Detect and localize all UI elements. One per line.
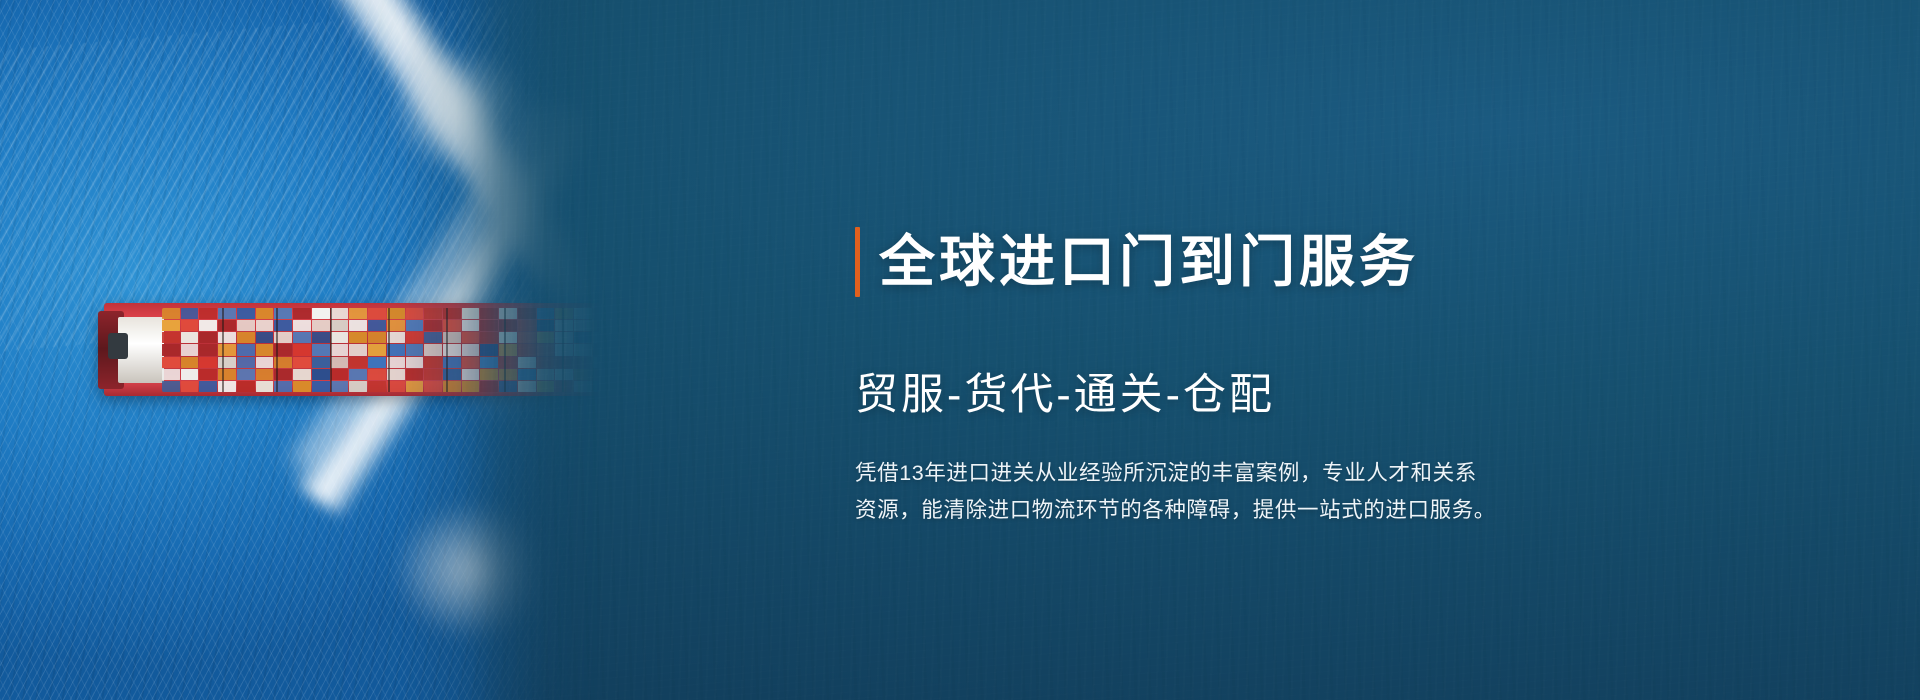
shipping-container <box>181 344 199 355</box>
container-stack <box>424 308 442 392</box>
shipping-container <box>462 308 480 319</box>
shipping-container <box>199 369 217 380</box>
shipping-container <box>480 320 498 331</box>
container-stack <box>480 308 498 392</box>
container-stack <box>406 308 424 392</box>
shipping-container <box>349 344 367 355</box>
ship-bridge <box>108 333 128 359</box>
cargo-bay-separator <box>616 308 618 392</box>
shipping-container <box>593 381 611 392</box>
shipping-container <box>518 320 536 331</box>
shipping-container <box>555 332 573 343</box>
shipping-container <box>518 357 536 368</box>
shipping-container <box>406 381 424 392</box>
shipping-container <box>368 308 386 319</box>
shipping-container <box>537 357 555 368</box>
shipping-container <box>630 344 648 355</box>
container-stack <box>312 308 330 392</box>
shipping-container <box>312 357 330 368</box>
shipping-container <box>218 308 236 319</box>
shipping-container <box>218 320 236 331</box>
shipping-container <box>612 369 630 380</box>
shipping-container <box>349 381 367 392</box>
shipping-container <box>462 357 480 368</box>
shipping-container <box>593 369 611 380</box>
shipping-container <box>199 332 217 343</box>
accent-bar <box>855 227 860 297</box>
shipping-container <box>331 357 349 368</box>
container-stack <box>349 308 367 392</box>
hero-banner: 全球进口门到门服务 贸服-货代-通关-仓配 凭借13年进口进关从业经验所沉淀的丰… <box>0 0 1920 700</box>
shipping-container <box>518 344 536 355</box>
shipping-container <box>162 344 180 355</box>
shipping-container <box>462 332 480 343</box>
shipping-container <box>424 320 442 331</box>
shipping-container <box>499 308 517 319</box>
shipping-container <box>593 308 611 319</box>
shipping-container <box>162 369 180 380</box>
shipping-container <box>480 357 498 368</box>
shipping-container <box>630 308 648 319</box>
cargo-bay-separator <box>446 308 448 392</box>
shipping-container <box>331 381 349 392</box>
shipping-container <box>349 308 367 319</box>
shipping-container <box>555 320 573 331</box>
shipping-container <box>181 320 199 331</box>
shipping-container <box>537 369 555 380</box>
container-stack <box>331 308 349 392</box>
shipping-container <box>256 357 274 368</box>
shipping-container <box>237 332 255 343</box>
shipping-container <box>331 344 349 355</box>
shipping-container <box>537 332 555 343</box>
shipping-container <box>162 308 180 319</box>
shipping-container <box>293 344 311 355</box>
container-stack <box>256 308 274 392</box>
shipping-container <box>293 369 311 380</box>
shipping-container <box>612 357 630 368</box>
container-stack <box>162 308 180 392</box>
shipping-container <box>293 308 311 319</box>
cargo-bay-separator <box>276 308 278 392</box>
shipping-container <box>518 332 536 343</box>
shipping-container <box>574 332 592 343</box>
shipping-container <box>331 332 349 343</box>
shipping-container <box>574 357 592 368</box>
shipping-container <box>630 381 648 392</box>
page-title: 全球进口门到门服务 <box>879 234 1419 290</box>
shipping-container <box>499 320 517 331</box>
description-line: 凭借13年进口进关从业经验所沉淀的丰富案例，专业人才和关系 <box>855 455 1575 492</box>
shipping-container <box>462 344 480 355</box>
cargo-bay-separator <box>222 308 224 392</box>
shipping-container <box>293 381 311 392</box>
container-stack <box>555 308 573 392</box>
shipping-container <box>424 357 442 368</box>
container-ship <box>104 303 650 396</box>
container-stack <box>518 308 536 392</box>
shipping-container <box>312 332 330 343</box>
shipping-container <box>593 320 611 331</box>
shipping-container <box>574 381 592 392</box>
shipping-container <box>293 332 311 343</box>
shipping-container <box>406 344 424 355</box>
shipping-container <box>312 308 330 319</box>
container-stack <box>612 308 630 392</box>
shipping-container <box>181 381 199 392</box>
container-stack <box>574 308 592 392</box>
shipping-container <box>574 320 592 331</box>
container-stack <box>368 308 386 392</box>
shipping-container <box>630 357 648 368</box>
shipping-container <box>312 381 330 392</box>
shipping-container <box>293 357 311 368</box>
description-line: 资源，能清除进口物流环节的各种障碍，提供一站式的进口服务。 <box>855 492 1575 529</box>
shipping-container <box>162 332 180 343</box>
shipping-container <box>499 369 517 380</box>
shipping-container <box>181 308 199 319</box>
shipping-container <box>555 369 573 380</box>
shipping-container <box>612 320 630 331</box>
shipping-container <box>406 320 424 331</box>
shipping-container <box>162 381 180 392</box>
shipping-container <box>312 369 330 380</box>
shipping-container <box>406 369 424 380</box>
cargo-bay-separator <box>388 308 390 392</box>
shipping-container <box>181 369 199 380</box>
shipping-container <box>537 320 555 331</box>
shipping-container <box>406 357 424 368</box>
shipping-container <box>518 308 536 319</box>
cargo-bay-separator <box>504 308 506 392</box>
shipping-container <box>424 332 442 343</box>
shipping-container <box>256 320 274 331</box>
shipping-container <box>199 308 217 319</box>
container-stack <box>499 308 517 392</box>
shipping-container <box>555 308 573 319</box>
cargo-container-stacks <box>162 308 648 392</box>
shipping-container <box>349 332 367 343</box>
shipping-container <box>256 308 274 319</box>
shipping-container <box>331 320 349 331</box>
shipping-container <box>480 369 498 380</box>
shipping-container <box>181 332 199 343</box>
shipping-container <box>480 344 498 355</box>
shipping-container <box>630 332 648 343</box>
shipping-container <box>593 357 611 368</box>
shipping-container <box>237 308 255 319</box>
shipping-container <box>406 308 424 319</box>
shipping-container <box>574 344 592 355</box>
shipping-container <box>537 344 555 355</box>
shipping-container <box>630 369 648 380</box>
shipping-container <box>518 381 536 392</box>
container-stack <box>462 308 480 392</box>
headline-row: 全球进口门到门服务 <box>855 196 1755 327</box>
shipping-container <box>612 308 630 319</box>
shipping-container <box>424 308 442 319</box>
shipping-container <box>218 357 236 368</box>
shipping-container <box>499 381 517 392</box>
shipping-container <box>574 308 592 319</box>
banner-content: 全球进口门到门服务 贸服-货代-通关-仓配 凭借13年进口进关从业经验所沉淀的丰… <box>855 196 1755 550</box>
shipping-container <box>499 332 517 343</box>
shipping-container <box>349 320 367 331</box>
shipping-container <box>331 369 349 380</box>
shipping-container <box>555 357 573 368</box>
shipping-container <box>237 344 255 355</box>
shipping-container <box>218 332 236 343</box>
shipping-container <box>462 381 480 392</box>
shipping-container <box>218 344 236 355</box>
shipping-container <box>480 308 498 319</box>
container-stack <box>293 308 311 392</box>
shipping-container <box>574 369 592 380</box>
shipping-container <box>593 332 611 343</box>
shipping-container <box>331 308 349 319</box>
shipping-container <box>199 344 217 355</box>
cargo-bay-separator <box>562 308 564 392</box>
shipping-container <box>368 332 386 343</box>
shipping-container <box>612 381 630 392</box>
shipping-container <box>256 369 274 380</box>
shipping-container <box>555 381 573 392</box>
shipping-container <box>218 381 236 392</box>
shipping-container <box>293 320 311 331</box>
cargo-bay-separator <box>330 308 332 392</box>
shipping-container <box>368 381 386 392</box>
shipping-container <box>424 369 442 380</box>
shipping-container <box>537 381 555 392</box>
shipping-container <box>462 369 480 380</box>
container-stack <box>537 308 555 392</box>
shipping-container <box>199 320 217 331</box>
shipping-container <box>480 381 498 392</box>
shipping-container <box>480 332 498 343</box>
shipping-container <box>218 369 236 380</box>
shipping-container <box>518 369 536 380</box>
shipping-container <box>181 357 199 368</box>
shipping-container <box>237 381 255 392</box>
shipping-container <box>237 369 255 380</box>
shipping-container <box>312 320 330 331</box>
container-stack <box>199 308 217 392</box>
container-stack <box>218 308 236 392</box>
shipping-container <box>256 381 274 392</box>
shipping-container <box>630 320 648 331</box>
shipping-container <box>462 320 480 331</box>
shipping-container <box>312 344 330 355</box>
container-stack <box>630 308 648 392</box>
container-stack <box>181 308 199 392</box>
shipping-container <box>368 369 386 380</box>
shipping-container <box>256 344 274 355</box>
shipping-container <box>256 332 274 343</box>
container-stack <box>593 308 611 392</box>
shipping-container <box>368 344 386 355</box>
shipping-container <box>349 357 367 368</box>
shipping-container <box>368 320 386 331</box>
shipping-container <box>424 344 442 355</box>
shipping-container <box>199 357 217 368</box>
container-ship-aerial-photo <box>0 0 700 700</box>
shipping-container <box>593 344 611 355</box>
description-paragraph: 凭借13年进口进关从业经验所沉淀的丰富案例，专业人才和关系 资源，能清除进口物流… <box>855 455 1575 529</box>
shipping-container <box>612 344 630 355</box>
shipping-container <box>537 308 555 319</box>
shipping-container <box>424 381 442 392</box>
shipping-container <box>499 344 517 355</box>
shipping-container <box>406 332 424 343</box>
shipping-container <box>237 357 255 368</box>
shipping-container <box>199 381 217 392</box>
shipping-container <box>349 369 367 380</box>
shipping-container <box>555 344 573 355</box>
shipping-container <box>612 332 630 343</box>
shipping-container <box>162 357 180 368</box>
container-stack <box>237 308 255 392</box>
shipping-container <box>162 320 180 331</box>
shipping-container <box>237 320 255 331</box>
subtitle: 贸服-货代-通关-仓配 <box>855 374 1755 417</box>
shipping-container <box>499 357 517 368</box>
shipping-container <box>368 357 386 368</box>
